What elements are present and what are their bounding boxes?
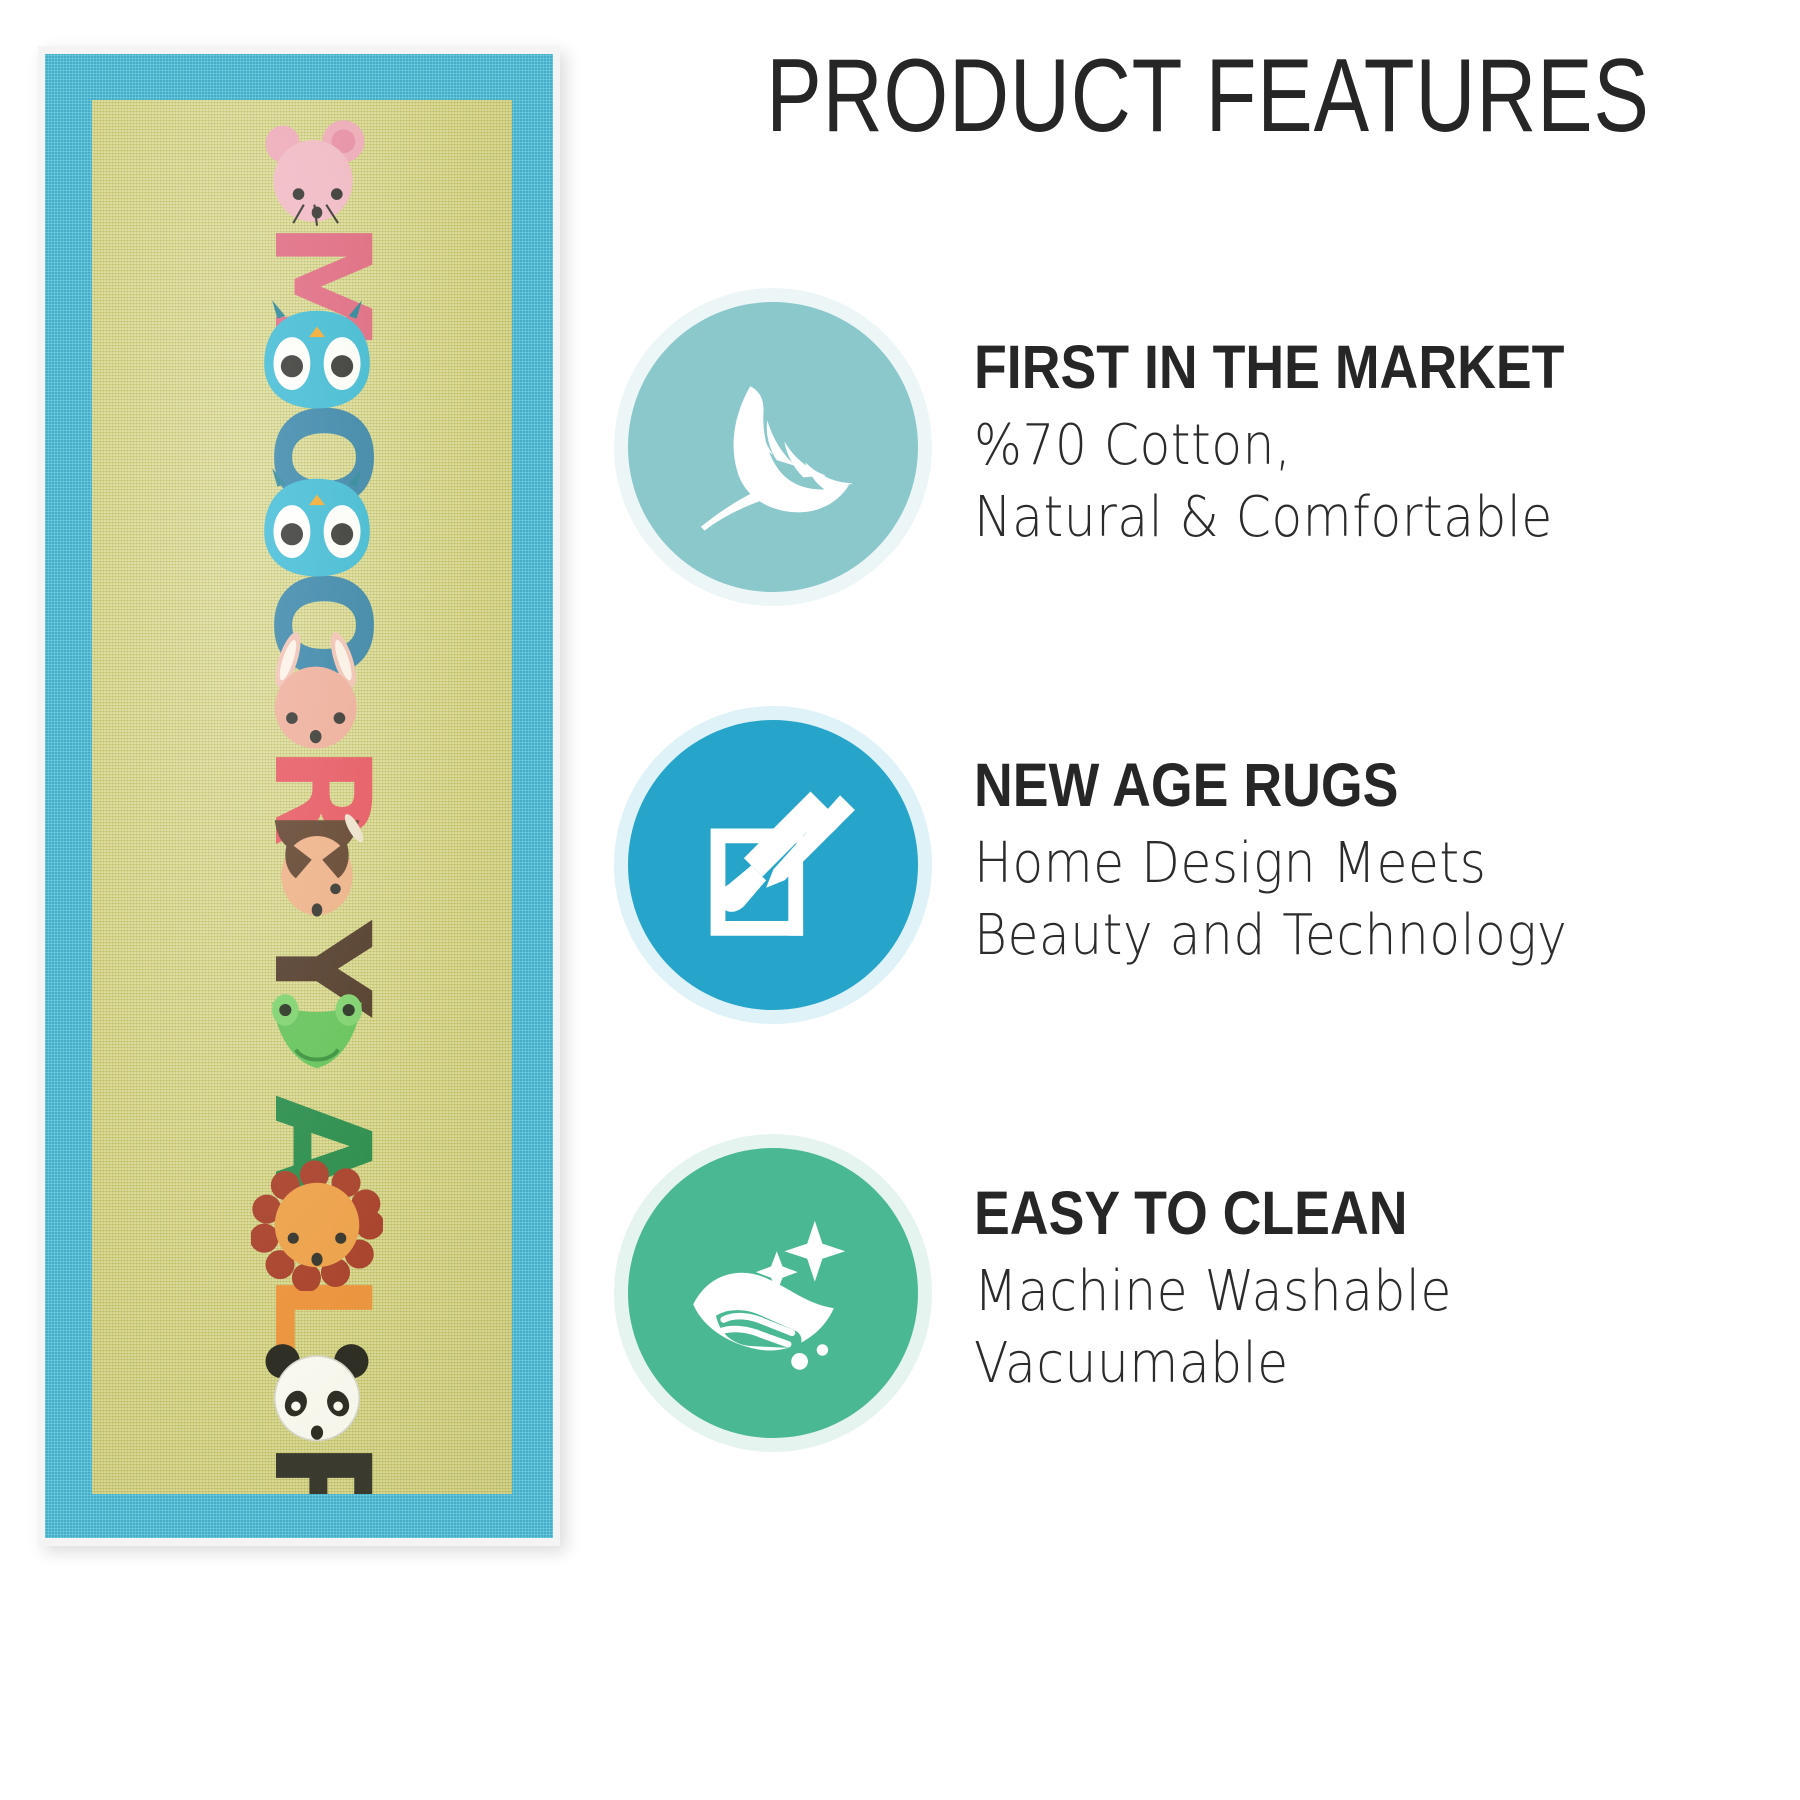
feature-line-2: Natural & Comfortable	[974, 482, 1578, 555]
rug-field: M	[92, 100, 512, 1494]
feature-item-first-in-the-market: FIRST IN THE MARKET %70 Cotton, Natural …	[614, 282, 1794, 612]
page-title: PRODUCT FEATURES	[744, 44, 1672, 148]
rug-letter-p: P	[229, 1321, 399, 1494]
feature-title: FIRST IN THE MARKET	[974, 335, 1564, 400]
frog-icon	[251, 981, 383, 1113]
feature-icon-circle	[614, 288, 932, 606]
feature-line-2: Beauty and Technology	[974, 900, 1567, 973]
feature-icon-circle	[614, 1134, 932, 1452]
product-features-infographic: M	[0, 0, 1800, 1800]
feature-line-1: Home Design Meets	[974, 828, 1567, 901]
feature-title: EASY TO CLEAN	[974, 1181, 1441, 1246]
rabbit-icon	[251, 631, 383, 763]
feature-item-new-age-rugs: NEW AGE RUGS Home Design Meets Beauty an…	[614, 700, 1794, 1030]
feature-icon-circle	[614, 706, 932, 1024]
owl-icon	[251, 287, 383, 419]
hand-wiping-cloth-sparkle-icon	[678, 1198, 868, 1388]
horse-icon	[251, 807, 383, 939]
feature-text: FIRST IN THE MARKET %70 Cotton, Natural …	[974, 335, 1645, 559]
rug-letter-stack: M	[92, 100, 512, 1494]
mouse-icon	[251, 107, 383, 239]
feature-line-1: Machine Washable	[974, 1256, 1452, 1329]
rug-border: M	[45, 54, 553, 1538]
feature-line-1: %70 Cotton,	[974, 410, 1578, 483]
feature-line-2: Vacuumable	[974, 1328, 1452, 1401]
feature-item-easy-to-clean: EASY TO CLEAN Machine Washable Vacuumabl…	[614, 1128, 1794, 1458]
feather-icon	[678, 352, 868, 542]
panda-icon	[251, 1327, 383, 1459]
owl-icon	[251, 455, 383, 587]
feature-title: NEW AGE RUGS	[974, 753, 1554, 818]
lion-icon	[251, 1159, 383, 1291]
product-image-rug: M	[38, 46, 560, 1546]
features-panel: PRODUCT FEATURES	[600, 0, 1800, 1800]
feature-text: NEW AGE RUGS Home Design Meets Beauty an…	[974, 753, 1633, 977]
feature-text: EASY TO CLEAN Machine Washable Vacuumabl…	[974, 1181, 1505, 1405]
design-brush-pencil-icon	[681, 773, 866, 958]
